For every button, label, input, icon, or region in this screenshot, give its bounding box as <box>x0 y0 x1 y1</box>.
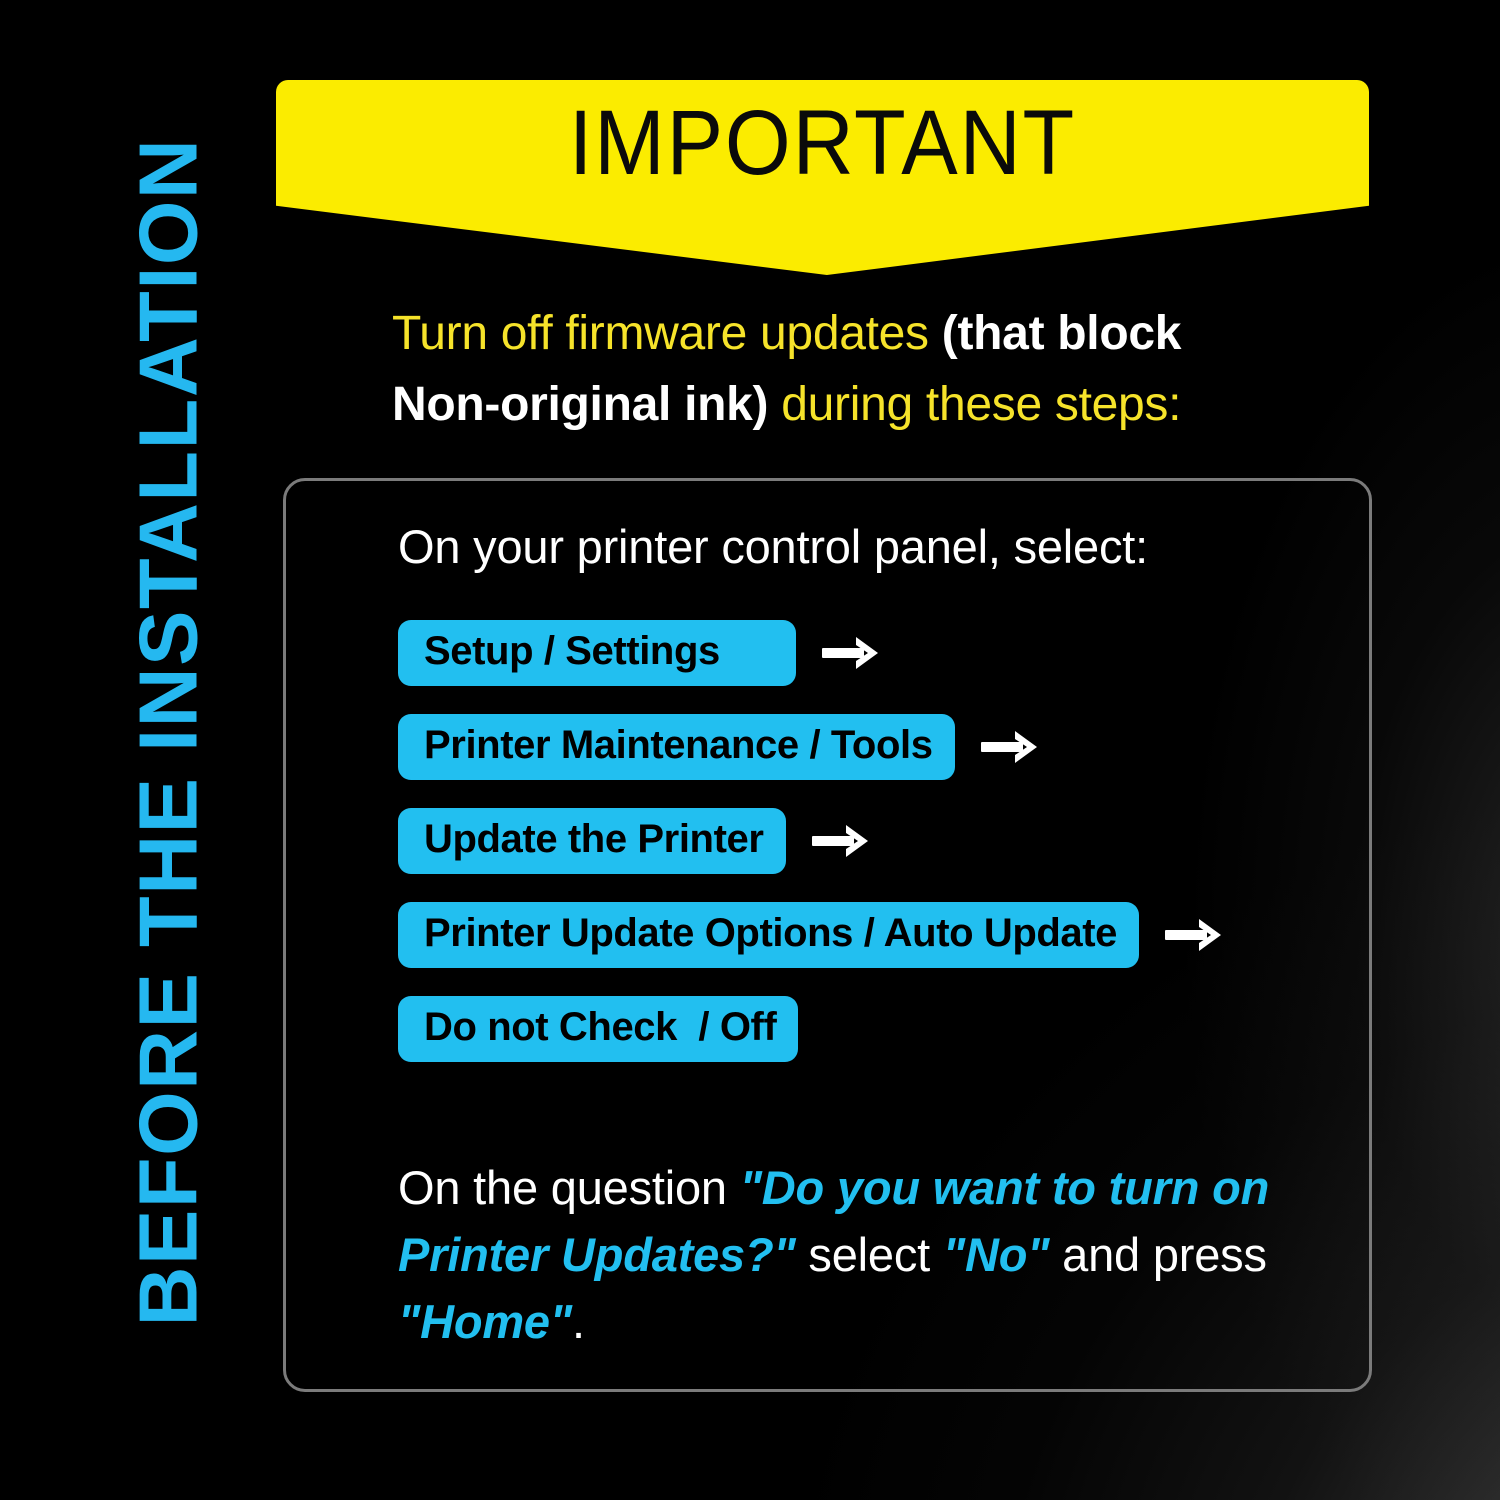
closing-middle: select <box>796 1228 943 1281</box>
step-arrow-icon <box>1163 913 1225 957</box>
closing-period: . <box>572 1295 585 1348</box>
closing-paragraph: On the question "Do you want to turn on … <box>398 1154 1303 1356</box>
step-chip-printer-update-options-auto-update[interactable]: Printer Update Options / Auto Update <box>398 902 1139 968</box>
panel-intro-text: On your printer control panel, select: <box>398 519 1148 574</box>
step-chip-label: Printer Maintenance / Tools <box>424 725 933 765</box>
steps-panel: On your printer control panel, select: S… <box>283 478 1372 1392</box>
step-row: Update the Printer <box>398 808 1328 874</box>
step-chip-label: Printer Update Options / Auto Update <box>424 913 1117 953</box>
step-chip-update-the-printer[interactable]: Update the Printer <box>398 808 786 874</box>
step-row: Do not Check / Off <box>398 996 1328 1062</box>
step-row: Printer Maintenance / Tools <box>398 714 1328 780</box>
closing-tail: and press <box>1049 1228 1266 1281</box>
step-arrow-icon <box>979 725 1041 769</box>
step-chip-label: Setup / Settings <box>424 631 720 671</box>
headline-part-1: Turn off firmware updates <box>392 307 942 360</box>
step-arrow-icon <box>810 819 872 863</box>
step-arrow-icon <box>820 631 882 675</box>
step-chip-label: Do not Check / Off <box>424 1007 776 1047</box>
closing-lead: On the question <box>398 1161 740 1214</box>
step-chip-label: Update the Printer <box>424 819 764 859</box>
headline-part-3: during these steps: <box>768 378 1181 431</box>
step-row: Printer Update Options / Auto Update <box>398 902 1328 968</box>
poster-canvas: BEFORE THE INSTALLATION IMPORTANT Turn o… <box>0 0 1500 1500</box>
step-chip-do-not-check-off[interactable]: Do not Check / Off <box>398 996 798 1062</box>
headline-paragraph: Turn off firmware updates (that block No… <box>392 298 1222 440</box>
important-banner: IMPORTANT <box>276 80 1369 275</box>
closing-home: "Home" <box>398 1295 572 1348</box>
banner-title: IMPORTANT <box>320 80 1326 206</box>
step-row: Setup / Settings <box>398 620 1328 686</box>
gear-icon <box>734 633 774 673</box>
step-chip-printer-maintenance-tools[interactable]: Printer Maintenance / Tools <box>398 714 955 780</box>
steps-list: Setup / Settings <box>398 620 1328 1090</box>
step-chip-setup-settings[interactable]: Setup / Settings <box>398 620 796 686</box>
closing-answer: "No" <box>943 1228 1049 1281</box>
